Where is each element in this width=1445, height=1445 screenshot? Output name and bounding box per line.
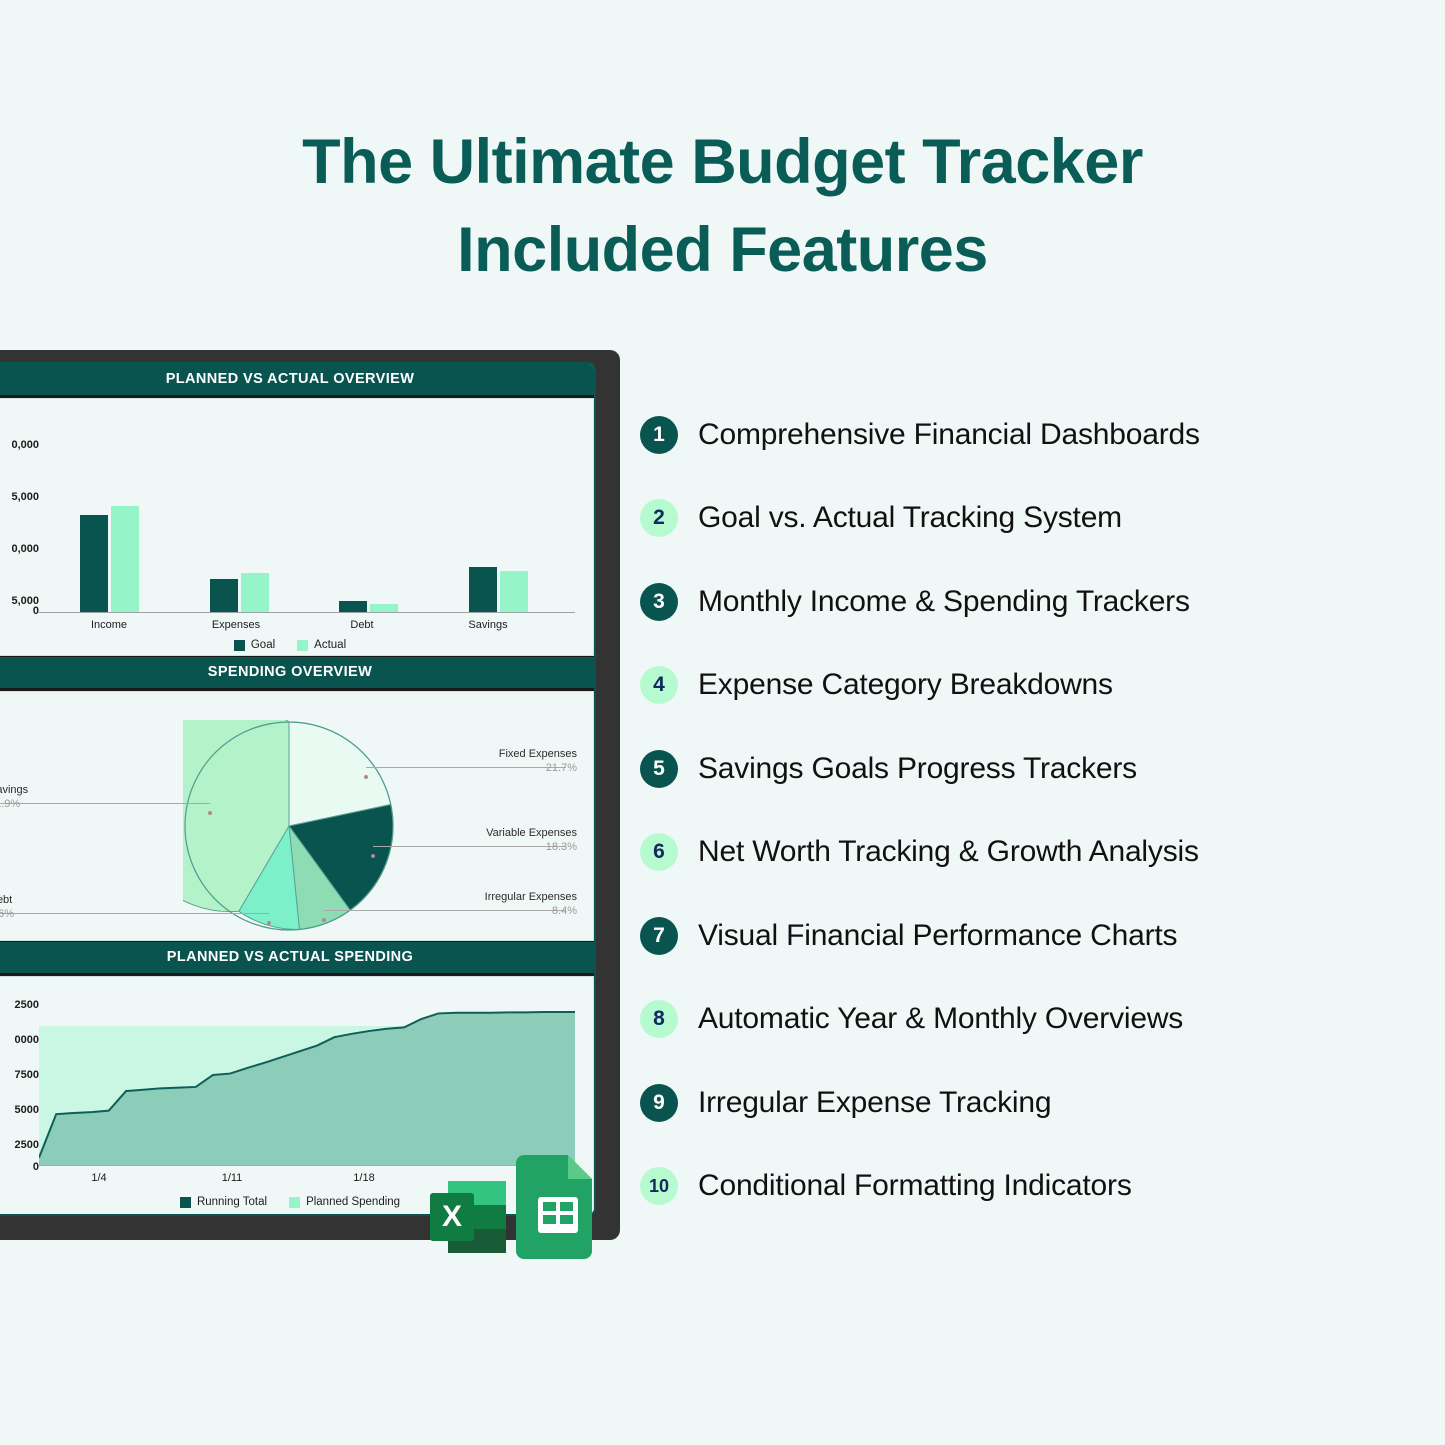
feature-item-7[interactable]: 7 Visual Financial Performance Charts <box>640 894 1400 978</box>
pie-callout-pct-debt: 9.6% <box>0 907 14 921</box>
chart-spending-overview: Fixed Expenses 21.7% Variable Expenses 1… <box>0 691 594 941</box>
legend-swatch-running-total <box>180 1197 191 1208</box>
feature-badge-8: 8 <box>640 1000 678 1038</box>
bar-savings-actual <box>500 571 528 613</box>
feature-item-5[interactable]: 5 Savings Goals Progress Trackers <box>640 727 1400 811</box>
pie-callout-pct-savings: 41.9% <box>0 797 28 811</box>
bar-xtick-debt: Debt <box>350 619 373 631</box>
bar-group-debt <box>339 417 398 613</box>
area-xtick-1-18: 1/18 <box>353 1172 374 1184</box>
feature-label-8: Automatic Year & Monthly Overviews <box>698 1002 1183 1036</box>
pie-point-irregular <box>322 918 326 922</box>
bar-income-goal <box>80 515 108 613</box>
pie-callout-label-savings: Savings <box>0 784 28 796</box>
legend-item-goal: Goal <box>234 639 275 651</box>
google-sheets-icon[interactable] <box>516 1155 598 1264</box>
area-xtick-1-11: 1/11 <box>222 1172 243 1184</box>
bar-ytick-0: 0 <box>0 605 39 617</box>
feature-badge-5: 5 <box>640 750 678 788</box>
pie-callout-pct-irregular: 8.4% <box>485 904 577 918</box>
legend-item-running-total: Running Total <box>180 1196 267 1208</box>
feature-label-5: Savings Goals Progress Trackers <box>698 752 1137 786</box>
features-list: 1 Comprehensive Financial Dashboards 2 G… <box>640 393 1400 1228</box>
pie-leader-savings <box>0 803 210 804</box>
dashboard-screen: PLANNED VS ACTUAL OVERVIEW 0,000 5,000 0… <box>0 362 596 1216</box>
bar-legend: Goal Actual <box>0 639 593 651</box>
area-ytick-5000: 5000 <box>0 1104 39 1116</box>
area-ytick-12500: 2500 <box>0 999 39 1011</box>
panel-planned-vs-actual-overview: PLANNED VS ACTUAL OVERVIEW 0,000 5,000 0… <box>0 364 594 657</box>
pie-callout-debt: Debt 9.6% <box>0 893 14 921</box>
pie-plot-area <box>183 720 395 932</box>
title-line-1: The Ultimate Budget Tracker <box>0 118 1445 206</box>
device-frame: PLANNED VS ACTUAL OVERVIEW 0,000 5,000 0… <box>0 350 620 1240</box>
feature-label-4: Expense Category Breakdowns <box>698 668 1113 702</box>
feature-item-8[interactable]: 8 Automatic Year & Monthly Overviews <box>640 978 1400 1062</box>
bar-group-income <box>80 417 139 613</box>
pie-callout-label-irregular: Irregular Expenses <box>485 891 577 903</box>
legend-label-goal: Goal <box>251 639 275 651</box>
bar-xtick-income: Income <box>91 619 127 631</box>
area-ytick-7500: 7500 <box>0 1069 39 1081</box>
feature-label-10: Conditional Formatting Indicators <box>698 1169 1132 1203</box>
pie-callout-pct-variable: 18.3% <box>486 840 577 854</box>
legend-swatch-actual <box>297 640 308 651</box>
feature-item-1[interactable]: 1 Comprehensive Financial Dashboards <box>640 393 1400 477</box>
panel-header-overview: PLANNED VS ACTUAL OVERVIEW <box>0 364 594 398</box>
feature-badge-10: 10 <box>640 1167 678 1205</box>
pie-callout-irregular-expenses: Irregular Expenses 8.4% <box>485 890 577 918</box>
app-icons-group: X <box>428 1155 608 1265</box>
legend-swatch-planned-spending <box>289 1197 300 1208</box>
panel-header-spending-trend: PLANNED VS ACTUAL SPENDING <box>0 942 594 976</box>
bar-expenses-actual <box>241 573 269 613</box>
pie-point-debt <box>267 921 271 925</box>
panel-spending-overview: SPENDING OVERVIEW <box>0 657 594 942</box>
feature-item-9[interactable]: 9 Irregular Expense Tracking <box>640 1061 1400 1145</box>
legend-label-planned-spending: Planned Spending <box>306 1196 400 1208</box>
area-ytick-0: 0 <box>0 1161 39 1173</box>
feature-item-2[interactable]: 2 Goal vs. Actual Tracking System <box>640 477 1400 561</box>
area-ytick-2500: 2500 <box>0 1139 39 1151</box>
feature-item-4[interactable]: 4 Expense Category Breakdowns <box>640 644 1400 728</box>
feature-label-9: Irregular Expense Tracking <box>698 1086 1051 1120</box>
feature-badge-2: 2 <box>640 499 678 537</box>
legend-item-planned-spending: Planned Spending <box>289 1196 400 1208</box>
pie-callout-pct-fixed: 21.7% <box>499 761 577 775</box>
feature-item-3[interactable]: 3 Monthly Income & Spending Trackers <box>640 560 1400 644</box>
area-ytick-10000: 0000 <box>0 1034 39 1046</box>
feature-badge-9: 9 <box>640 1084 678 1122</box>
pie-svg <box>183 720 395 932</box>
pie-leader-debt <box>0 913 269 914</box>
pie-callout-savings: Savings 41.9% <box>0 783 28 811</box>
pie-point-variable <box>371 854 375 858</box>
area-plot-area <box>39 991 575 1166</box>
bar-ytick-15000: 5,000 <box>0 491 39 503</box>
bar-group-savings <box>469 417 528 613</box>
feature-badge-3: 3 <box>640 583 678 621</box>
pie-point-fixed <box>364 775 368 779</box>
feature-item-6[interactable]: 6 Net Worth Tracking & Growth Analysis <box>640 811 1400 895</box>
bar-expenses-goal <box>210 579 238 613</box>
feature-label-2: Goal vs. Actual Tracking System <box>698 501 1122 535</box>
area-xtick-1-4: 1/4 <box>91 1172 106 1184</box>
pie-callout-label-variable: Variable Expenses <box>486 827 577 839</box>
feature-badge-1: 1 <box>640 416 678 454</box>
legend-label-running-total: Running Total <box>197 1196 267 1208</box>
legend-label-actual: Actual <box>314 639 346 651</box>
bar-ytick-10000: 0,000 <box>0 543 39 555</box>
pie-callout-variable-expenses: Variable Expenses 18.3% <box>486 826 577 854</box>
title-line-2: Included Features <box>0 206 1445 294</box>
feature-badge-6: 6 <box>640 833 678 871</box>
page-title: The Ultimate Budget Tracker Included Fea… <box>0 118 1445 294</box>
legend-swatch-goal <box>234 640 245 651</box>
pie-callout-label-debt: Debt <box>0 894 12 906</box>
legend-item-actual: Actual <box>297 639 346 651</box>
bar-income-actual <box>111 506 139 613</box>
bar-group-expenses <box>210 417 269 613</box>
feature-label-1: Comprehensive Financial Dashboards <box>698 418 1200 452</box>
chart-planned-vs-actual-overview: 0,000 5,000 0,000 5,000 0 <box>0 398 594 656</box>
microsoft-excel-icon[interactable]: X <box>428 1175 512 1264</box>
bar-savings-goal <box>469 567 497 613</box>
bar-xtick-savings: Savings <box>468 619 507 631</box>
svg-text:X: X <box>442 1200 462 1233</box>
feature-badge-4: 4 <box>640 666 678 704</box>
feature-label-3: Monthly Income & Spending Trackers <box>698 585 1190 619</box>
bar-baseline <box>39 612 575 613</box>
pie-callout-fixed-expenses: Fixed Expenses 21.7% <box>499 747 577 775</box>
bar-xtick-expenses: Expenses <box>212 619 260 631</box>
feature-label-6: Net Worth Tracking & Growth Analysis <box>698 835 1199 869</box>
bar-ytick-20000: 0,000 <box>0 439 39 451</box>
feature-label-7: Visual Financial Performance Charts <box>698 919 1177 953</box>
panel-header-spending: SPENDING OVERVIEW <box>0 657 594 691</box>
feature-item-10[interactable]: 10 Conditional Formatting Indicators <box>640 1145 1400 1229</box>
bar-plot-area <box>45 417 563 613</box>
area-svg <box>39 991 575 1166</box>
feature-badge-7: 7 <box>640 917 678 955</box>
pie-callout-label-fixed: Fixed Expenses <box>499 748 577 760</box>
pie-point-savings <box>208 811 212 815</box>
